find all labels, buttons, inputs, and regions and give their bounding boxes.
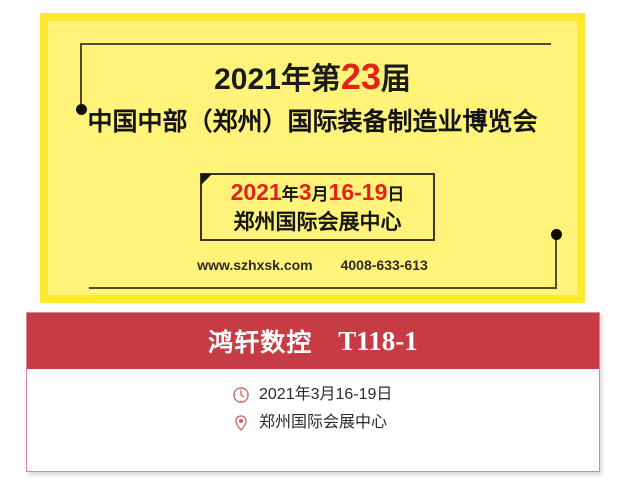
poster-title-prefix: 2021年第 (214, 63, 341, 96)
poster-title-primary: 2021年第23届 (48, 59, 577, 95)
poster-title-edition-number: 23 (341, 56, 381, 97)
exhibitor-card: 鸿轩数控 T118-1 2021年3月16-19日 (26, 312, 600, 472)
decorative-line-bottom (89, 287, 557, 289)
poster-date-day-unit: 日 (387, 185, 404, 204)
poster-phone: 4008-633-613 (341, 257, 428, 273)
booth-code: T118-1 (338, 326, 418, 357)
poster-title-suffix: 届 (381, 63, 411, 96)
exhibitor-card-body: 2021年3月16-19日 郑州国际会展中心 (27, 369, 599, 437)
poster-date-month-unit: 月 (312, 185, 329, 204)
info-row-venue: 郑州国际会展中心 (27, 409, 599, 437)
exhibitor-name: 鸿轩数控 (208, 323, 312, 359)
poster-website: www.szhxsk.com (197, 257, 312, 273)
decorative-dot-bottom-right (551, 229, 562, 240)
poster-date-days: 16-19 (329, 179, 388, 205)
poster-contact-line: www.szhxsk.com4008-633-613 (48, 257, 577, 273)
date-venue-box: 2021年3月16-19日 郑州国际会展中心 (200, 173, 435, 241)
info-row-date: 2021年3月16-19日 (27, 381, 599, 409)
location-pin-icon (232, 414, 250, 432)
poster-date-year: 2021 (231, 179, 282, 205)
exhibitor-card-header: 鸿轩数控 T118-1 (27, 313, 599, 369)
poster-date-line: 2021年3月16-19日 (202, 181, 433, 204)
poster-title-secondary: 中国中部（郑州）国际装备制造业博览会 (48, 109, 577, 137)
poster-canvas: 2021年第23届 中国中部（郑州）国际装备制造业博览会 2021年3月16-1… (0, 0, 626, 485)
poster-inner-panel: 2021年第23届 中国中部（郑州）国际装备制造业博览会 2021年3月16-1… (48, 21, 577, 295)
poster-date-month: 3 (299, 179, 312, 205)
poster-date-year-unit: 年 (282, 185, 299, 204)
exhibition-poster: 2021年第23届 中国中部（郑州）国际装备制造业博览会 2021年3月16-1… (40, 13, 585, 303)
clock-icon (232, 386, 250, 404)
exhibition-date-text: 2021年3月16-19日 (259, 387, 392, 403)
decorative-line-top (80, 43, 551, 45)
exhibition-venue-text: 郑州国际会展中心 (259, 415, 387, 431)
poster-venue: 郑州国际会展中心 (202, 212, 433, 233)
